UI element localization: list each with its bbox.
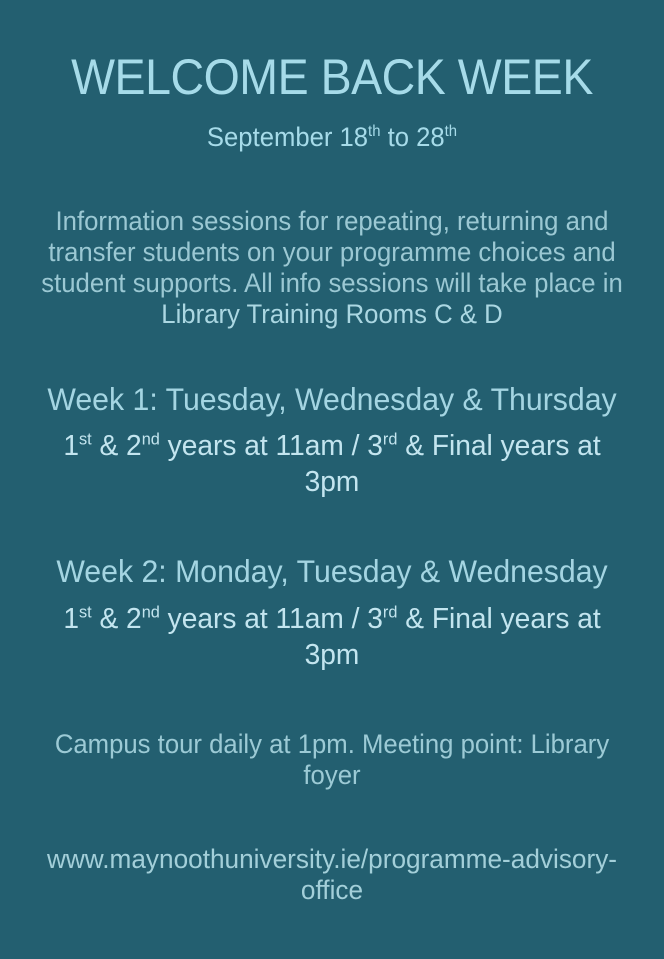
ordinal-suffix-2nd-w1: nd: [142, 429, 160, 448]
week-1-detail: 1st & 2nd years at 11am / 3rd & Final ye…: [39, 428, 625, 500]
week-2-detail: 1st & 2nd years at 11am / 3rd & Final ye…: [39, 601, 625, 673]
campus-tour-info: Campus tour daily at 1pm. Meeting point:…: [39, 729, 625, 791]
week-1-heading: Week 1: Tuesday, Wednesday & Thursday: [13, 381, 650, 417]
week-2-heading: Week 2: Monday, Tuesday & Wednesday: [13, 553, 650, 589]
week-1-detail-part1: 1: [63, 430, 79, 462]
ordinal-suffix-3rd-w1: rd: [383, 429, 398, 448]
page-title: WELCOME BACK WEEK: [23, 50, 641, 104]
ordinal-suffix-1st-w1: st: [79, 429, 92, 448]
ordinal-suffix-2nd-w2: nd: [142, 602, 160, 621]
event-dates-prefix: September 18: [207, 122, 368, 152]
ordinal-suffix-28: th: [445, 123, 457, 140]
week-2-detail-part1: 1: [63, 603, 79, 635]
ordinal-suffix-18: th: [368, 123, 380, 140]
week-2-detail-part2: & 2: [92, 603, 142, 635]
event-dates: September 18th to 28th: [17, 120, 648, 154]
ordinal-suffix-3rd-w2: rd: [383, 602, 398, 621]
ordinal-suffix-1st-w2: st: [79, 602, 92, 621]
event-dates-middle: to 28: [380, 122, 444, 152]
intro-body-text: Information sessions for repeating, retu…: [41, 206, 623, 298]
week-2-detail-part3: years at 11am / 3: [160, 603, 383, 635]
week-1-detail-part2: & 2: [92, 430, 142, 462]
week-1-detail-part3: years at 11am / 3: [160, 430, 383, 462]
website-url[interactable]: www.maynoothuniversity.ie/programme-advi…: [27, 844, 636, 906]
intro-paragraph: Information sessions for repeating, retu…: [37, 206, 627, 330]
poster-canvas: WELCOME BACK WEEK September 18th to 28th…: [0, 0, 664, 959]
venue-text: Library Training Rooms C & D: [37, 299, 627, 330]
